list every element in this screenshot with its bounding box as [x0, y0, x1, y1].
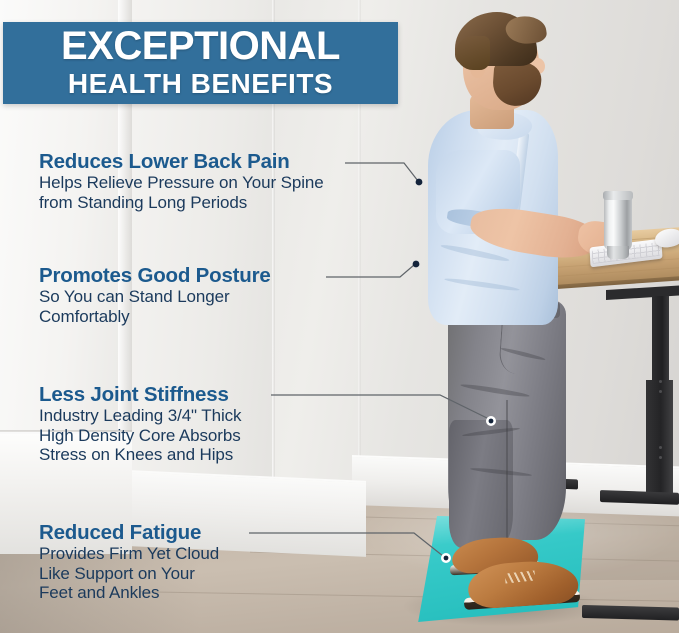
- benefit-title: Less Joint Stiffness: [39, 383, 241, 406]
- benefit-title: Reduces Lower Back Pain: [39, 150, 324, 173]
- product-infographic: EXCEPTIONAL HEALTH BENEFITS Reduces Lowe…: [0, 0, 679, 633]
- benefit-body: Industry Leading 3/4" Thick High Density…: [39, 406, 241, 465]
- benefit-body-line: So You can Stand Longer: [39, 287, 271, 307]
- tumbler-body: [604, 196, 632, 250]
- benefit-block-2: Promotes Good Posture So You can Stand L…: [39, 264, 271, 326]
- tumbler: [604, 188, 632, 258]
- benefit-block-1: Reduces Lower Back Pain Helps Relieve Pr…: [39, 150, 324, 212]
- back-leg: [449, 420, 513, 548]
- benefit-body-line: Feet and Ankles: [39, 583, 219, 603]
- benefit-title: Reduced Fatigue: [39, 521, 219, 544]
- benefit-block-4: Reduced Fatigue Provides Firm Yet Cloud …: [39, 521, 219, 603]
- headline-line-1: EXCEPTIONAL: [3, 26, 398, 66]
- benefit-body-line: Helps Relieve Pressure on Your Spine: [39, 173, 324, 193]
- benefit-body-line: Provides Firm Yet Cloud: [39, 544, 219, 564]
- benefit-body-line: High Density Core Absorbs: [39, 426, 241, 446]
- tumbler-lid: [603, 191, 633, 200]
- benefit-body: Provides Firm Yet Cloud Like Support on …: [39, 544, 219, 603]
- benefit-body-line: Comfortably: [39, 307, 271, 327]
- benefit-block-3: Less Joint Stiffness Industry Leading 3/…: [39, 383, 241, 465]
- hair-side: [456, 36, 490, 70]
- benefit-body-line: Industry Leading 3/4" Thick: [39, 406, 241, 426]
- headline-banner: EXCEPTIONAL HEALTH BENEFITS: [3, 22, 398, 104]
- headline-line-2: HEALTH BENEFITS: [3, 68, 398, 100]
- benefit-body-line: from Standing Long Periods: [39, 193, 324, 213]
- benefit-body: Helps Relieve Pressure on Your Spine fro…: [39, 173, 324, 212]
- benefit-body-line: Like Support on Your: [39, 564, 219, 584]
- benefit-title: Promotes Good Posture: [39, 264, 271, 287]
- benefit-body-line: Stress on Knees and Hips: [39, 445, 241, 465]
- tumbler-base: [607, 246, 629, 259]
- benefit-body: So You can Stand Longer Comfortably: [39, 287, 271, 326]
